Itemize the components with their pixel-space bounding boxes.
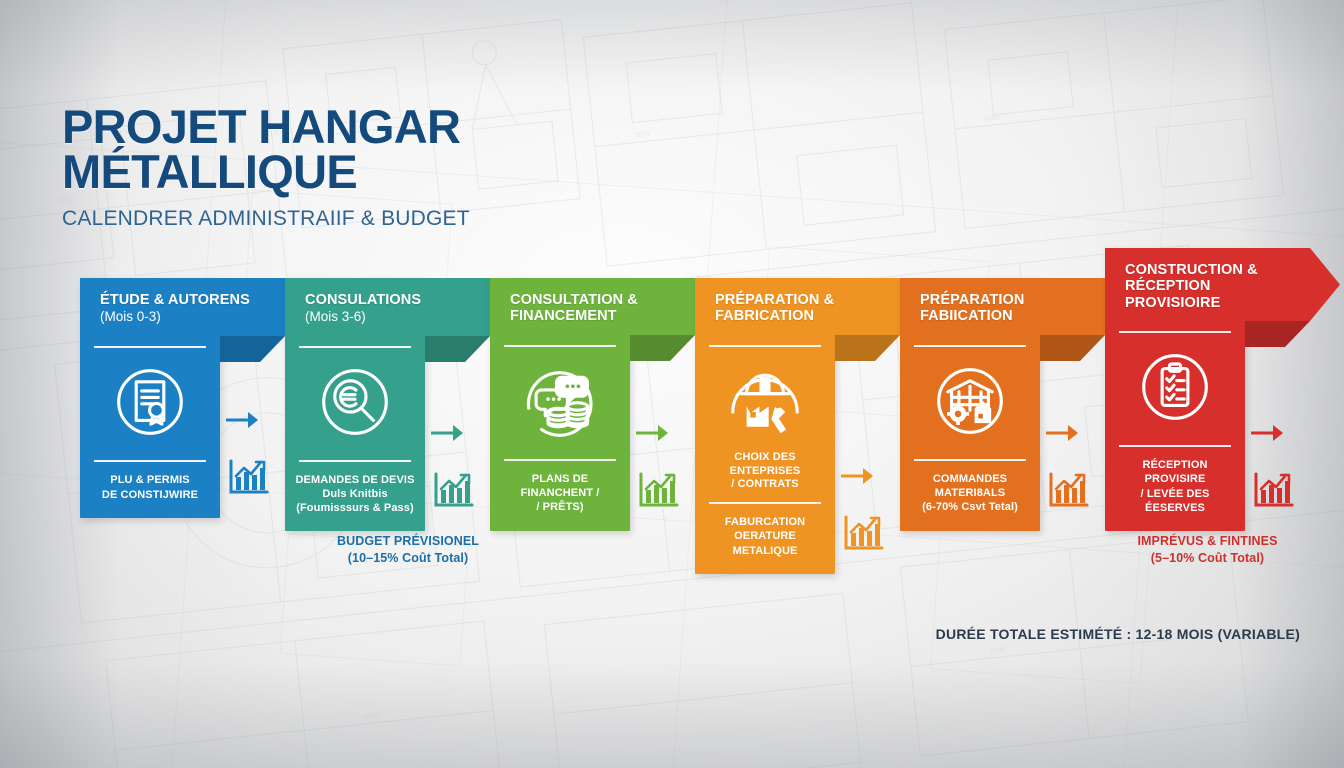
step-divider-1 [1119, 331, 1231, 333]
ribbon-fold-shadow [630, 335, 695, 361]
ribbon-fold-shadow [1245, 321, 1310, 347]
step-bottom: COMMANDES MATERI8ALS (6-70% Csvt Tetal) [900, 449, 1040, 515]
step-bottom: PLU & PERMIS DE CONSTIJWIRE [80, 450, 220, 502]
svg-text:6400: 6400 [984, 114, 1000, 123]
step-connector-arrow-icon [841, 464, 875, 488]
step-connector-arrow-icon [636, 421, 670, 445]
step-title: CONSTRUCTION & RÉCEPTION PROVISIOIRE [1125, 262, 1294, 311]
certificate-icon [80, 354, 220, 450]
step-divider-1 [504, 345, 616, 347]
step-ribbon: CONSULTATION & FINANCEMENT [490, 278, 695, 335]
step-chart-icon [1048, 471, 1090, 511]
step-ribbon: CONSTRUCTION & RÉCEPTION PROVISIOIRE [1105, 248, 1310, 321]
step-divider-1 [709, 345, 821, 347]
process-step-6[interactable]: CONSTRUCTION & RÉCEPTION PROVISIOIRE [1105, 248, 1245, 531]
step-caption: COMMANDES MATERI8ALS (6-70% Csvt Tetal) [900, 472, 1040, 515]
page-title-line2: MÉTALLIQUE [62, 149, 470, 194]
process-flow: ÉTUDE & AUTORENS (Mois 0-3) [0, 248, 1344, 548]
svg-text:5600: 5600 [363, 712, 379, 721]
process-step-5[interactable]: PRÉPARATION FABIICATION [900, 278, 1040, 531]
step-divider-2 [914, 459, 1026, 461]
svg-text:2870: 2870 [634, 131, 650, 140]
step-ribbon: CONSULATIONS (Mois 3-6) [285, 278, 490, 336]
step-caption: PLU & PERMIS DE CONSTIJWIRE [80, 473, 220, 502]
step-card[interactable]: CONSULATIONS (Mois 3-6) [285, 278, 425, 531]
process-step-4[interactable]: PRÉPARATION & FABRICATION [695, 278, 835, 574]
step-title: PRÉPARATION & FABRICATION [715, 292, 884, 325]
step-divider-2 [1119, 445, 1231, 447]
step-ribbon: ÉTUDE & AUTORENS (Mois 0-3) [80, 278, 285, 336]
step-bottom: DEMANDES DE DEVIS Duls Knitbis (Foumisss… [285, 450, 425, 516]
step-bottom: RÉCEPTION PROVISIRE / LEVÉE DES ÉESERVES [1105, 435, 1245, 515]
step-caption: DEMANDES DE DEVIS Duls Knitbis (Foumisss… [285, 473, 425, 516]
step-chart-icon [638, 471, 680, 511]
speech-coins-icon [490, 353, 630, 449]
step-mid-text: CHOIX DES ENTEPRISES / CONTRATS [695, 451, 835, 492]
step-title: ÉTUDE & AUTORENS [100, 292, 269, 308]
step-caption: FABURCATION OERATURE METALIQUE [695, 515, 835, 558]
step-divider-2 [299, 460, 411, 462]
ribbon-fold-shadow [835, 335, 900, 361]
step-caption: RÉCEPTION PROVISIRE / LEVÉE DES ÉESERVES [1105, 458, 1245, 515]
step-ribbon: PRÉPARATION & FABRICATION [695, 278, 900, 335]
step-title: CONSULATIONS [305, 292, 474, 308]
page-header: PROJET HANGAR MÉTALLIQUE CALENDRER ADMIN… [62, 104, 470, 231]
step-ribbon: PRÉPARATION FABIICATION [900, 278, 1105, 335]
step-chart-icon [843, 514, 885, 554]
note-risk: IMPRÉVUS & FINTINES (5–10% Coût Total) [1110, 533, 1305, 567]
step-connector-arrow-icon [431, 421, 465, 445]
step-divider-1 [914, 345, 1026, 347]
ribbon-fold-shadow [1040, 335, 1105, 361]
step-divider-1 [94, 346, 206, 348]
structure-gear-icon [900, 353, 1040, 449]
step-divider-2 [504, 459, 616, 461]
note-budget: BUDGET PRÉVISIONEL (10–15% Coût Total) [298, 533, 518, 567]
footer-duration: DURÉE TOTALE ESTIMÉTÉ : 12-18 MOIS (VARI… [936, 626, 1300, 642]
step-title: PRÉPARATION FABIICATION [920, 292, 1089, 325]
svg-text:7340: 7340 [989, 647, 1005, 656]
step-months: (Mois 0-3) [100, 309, 269, 325]
ribbon-chevron-icon [1310, 248, 1342, 321]
ribbon-fold-shadow [425, 336, 490, 362]
step-card[interactable]: CONSULTATION & FINANCEMENT [490, 278, 630, 531]
process-step-1[interactable]: ÉTUDE & AUTORENS (Mois 0-3) [80, 278, 220, 518]
step-bottom: PLANS DE FINANCHENT / / PRÊTS) [490, 449, 630, 515]
magnifier-euro-icon [285, 354, 425, 450]
clipboard-check-icon [1105, 339, 1245, 435]
step-connector-arrow-icon [226, 408, 260, 432]
step-connector-arrow-icon [1251, 421, 1285, 445]
step-card[interactable]: CONSTRUCTION & RÉCEPTION PROVISIOIRE [1105, 248, 1245, 531]
page-subtitle: CALENDRER ADMINISTRAIIF & BUDGET [62, 207, 470, 231]
page-title: PROJET HANGAR MÉTALLIQUE [62, 104, 470, 194]
step-title: CONSULTATION & FINANCEMENT [510, 292, 679, 325]
helmet-factory-icon [695, 353, 835, 449]
step-chart-icon [228, 458, 270, 498]
step-chart-icon [1253, 471, 1295, 511]
step-connector-arrow-icon [1046, 421, 1080, 445]
step-card[interactable]: ÉTUDE & AUTORENS (Mois 0-3) [80, 278, 220, 518]
step-card[interactable]: PRÉPARATION FABIICATION [900, 278, 1040, 531]
step-months: (Mois 3-6) [305, 309, 474, 325]
step-bottom: FABURCATION OERATURE METALIQUE [695, 504, 835, 558]
process-step-2[interactable]: CONSULATIONS (Mois 3-6) [285, 278, 425, 531]
process-step-3[interactable]: CONSULTATION & FINANCEMENT [490, 278, 630, 531]
ribbon-fold-shadow [220, 336, 285, 362]
step-chart-icon [433, 471, 475, 511]
step-divider-1 [299, 346, 411, 348]
step-card[interactable]: PRÉPARATION & FABRICATION [695, 278, 835, 574]
step-divider-2 [94, 460, 206, 462]
step-caption: PLANS DE FINANCHENT / / PRÊTS) [490, 472, 630, 515]
